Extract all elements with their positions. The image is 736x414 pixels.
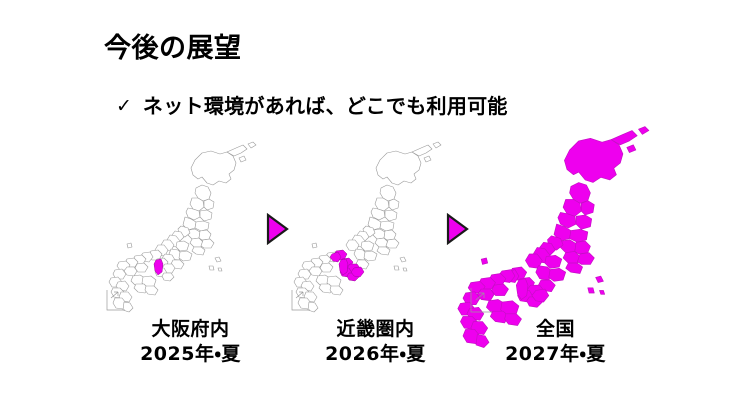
stage-region-label: 全国 xyxy=(468,317,643,342)
slide-canvas: 今後の展望 ✓ ネット環境があれば、どこでも利用可能 xyxy=(0,0,736,414)
japan-map-osaka xyxy=(103,140,278,318)
triangle-right-icon xyxy=(265,213,289,245)
bullet-item: ✓ ネット環境があれば、どこでも利用可能 xyxy=(116,94,508,118)
stage-date-label: 2026年・夏 xyxy=(288,342,463,367)
stage-region-label: 大阪府内 xyxy=(103,317,278,342)
triangle-right-icon xyxy=(445,213,469,245)
stage-caption: 大阪府内 2025年・夏 xyxy=(103,317,278,367)
stage-region-label: 近畿圏内 xyxy=(288,317,463,342)
rollout-roadmap: 大阪府内 2025年・夏 xyxy=(100,140,720,380)
japan-map-kinki xyxy=(288,140,463,318)
stage-date-label: 2025年・夏 xyxy=(103,342,278,367)
stage-caption: 近畿圏内 2026年・夏 xyxy=(288,317,463,367)
roadmap-stage-3: 全国 2027年・夏 xyxy=(468,140,643,380)
roadmap-stage-1: 大阪府内 2025年・夏 xyxy=(103,140,278,380)
japan-map-nationwide xyxy=(468,140,643,318)
roadmap-stage-2: 近畿圏内 2026年・夏 xyxy=(288,140,463,380)
bullet-text: ネット環境があれば、どこでも利用可能 xyxy=(143,94,508,118)
stage-caption: 全国 2027年・夏 xyxy=(468,317,643,367)
check-icon: ✓ xyxy=(116,97,132,116)
stage-date-label: 2027年・夏 xyxy=(468,342,643,367)
page-title: 今後の展望 xyxy=(104,33,242,64)
